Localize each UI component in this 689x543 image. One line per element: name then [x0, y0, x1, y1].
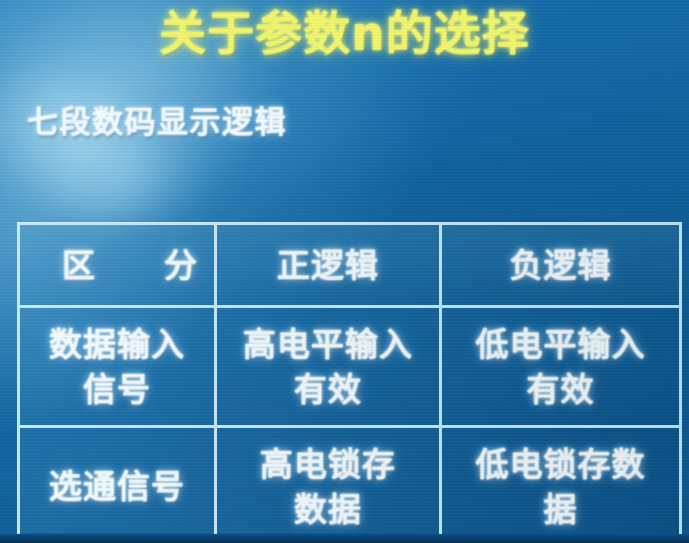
table-row: 选通信号 高电锁存 数据 低电锁存数 据 [19, 427, 681, 543]
cell-row2-category: 选通信号 [19, 427, 216, 543]
header-cell-positive-logic: 正逻辑 [215, 224, 440, 307]
logic-comparison-table: 区 分 正逻辑 负逻辑 数据输入 信号 高电平输入 有效 低电平输入 有效 选通… [17, 222, 682, 543]
cell-row2-positive-logic: 高电锁存 数据 [215, 427, 440, 543]
table-row: 数据输入 信号 高电平输入 有效 低电平输入 有效 [19, 307, 681, 427]
cell-row1-negative-logic: 低电平输入 有效 [440, 307, 680, 427]
bottom-edge-bar [0, 534, 689, 543]
slide-subtitle: 七段数码显示逻辑 [27, 104, 287, 142]
cell-row1-positive-logic: 高电平输入 有效 [215, 307, 440, 427]
header-cell-category: 区 分 [19, 224, 216, 307]
slide-title: 关于参数n的选择 [0, 6, 689, 64]
slide-screen: 关于参数n的选择 七段数码显示逻辑 区 分 正逻辑 负逻辑 数据输入 信号 高电… [0, 0, 689, 543]
cell-row2-negative-logic: 低电锁存数 据 [440, 427, 680, 543]
table-header-row: 区 分 正逻辑 负逻辑 [19, 224, 681, 307]
header-cell-negative-logic: 负逻辑 [440, 224, 680, 307]
cell-row1-category: 数据输入 信号 [19, 307, 216, 427]
